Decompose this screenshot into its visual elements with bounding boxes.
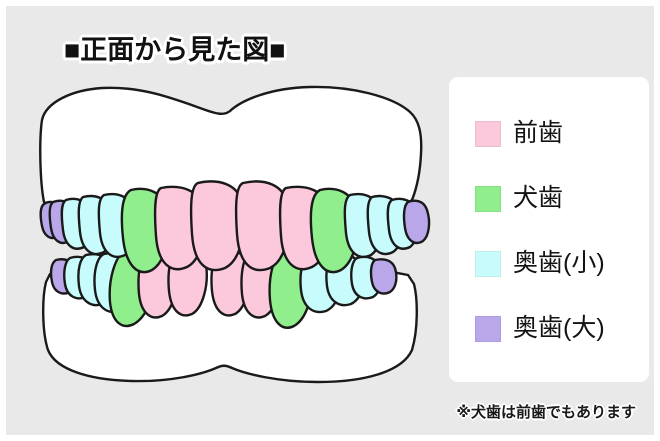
legend-swatch-molar-small (475, 251, 501, 277)
tooth-upper-right-2nd-molar (404, 201, 429, 243)
legend-label-incisor: 前歯 (513, 121, 563, 146)
front-view-teeth-diagram (20, 78, 440, 390)
legend-panel: 前歯 犬歯 奥歯(小) 奥歯(大) (449, 77, 649, 382)
legend-item-molar-large: 奥歯(大) (449, 296, 649, 361)
footnote-text: ※犬歯は前歯でもあります (456, 401, 636, 422)
legend-item-incisor: 前歯 (449, 101, 649, 166)
screenshot-root: ■正面から見た図■ (0, 0, 660, 441)
legend-swatch-incisor (475, 121, 501, 147)
legend-item-molar-small: 奥歯(小) (449, 231, 649, 296)
legend-label-molar-large: 奥歯(大) (513, 316, 605, 341)
legend-swatch-molar-large (475, 316, 501, 342)
tooth-lower-right-2nd-molar (371, 259, 396, 293)
legend-swatch-canine (475, 186, 501, 212)
legend-item-canine: 犬歯 (449, 166, 649, 231)
legend-label-canine: 犬歯 (513, 186, 563, 211)
legend-label-molar-small: 奥歯(小) (513, 251, 605, 276)
page-title: ■正面から見た図■ (64, 28, 286, 67)
